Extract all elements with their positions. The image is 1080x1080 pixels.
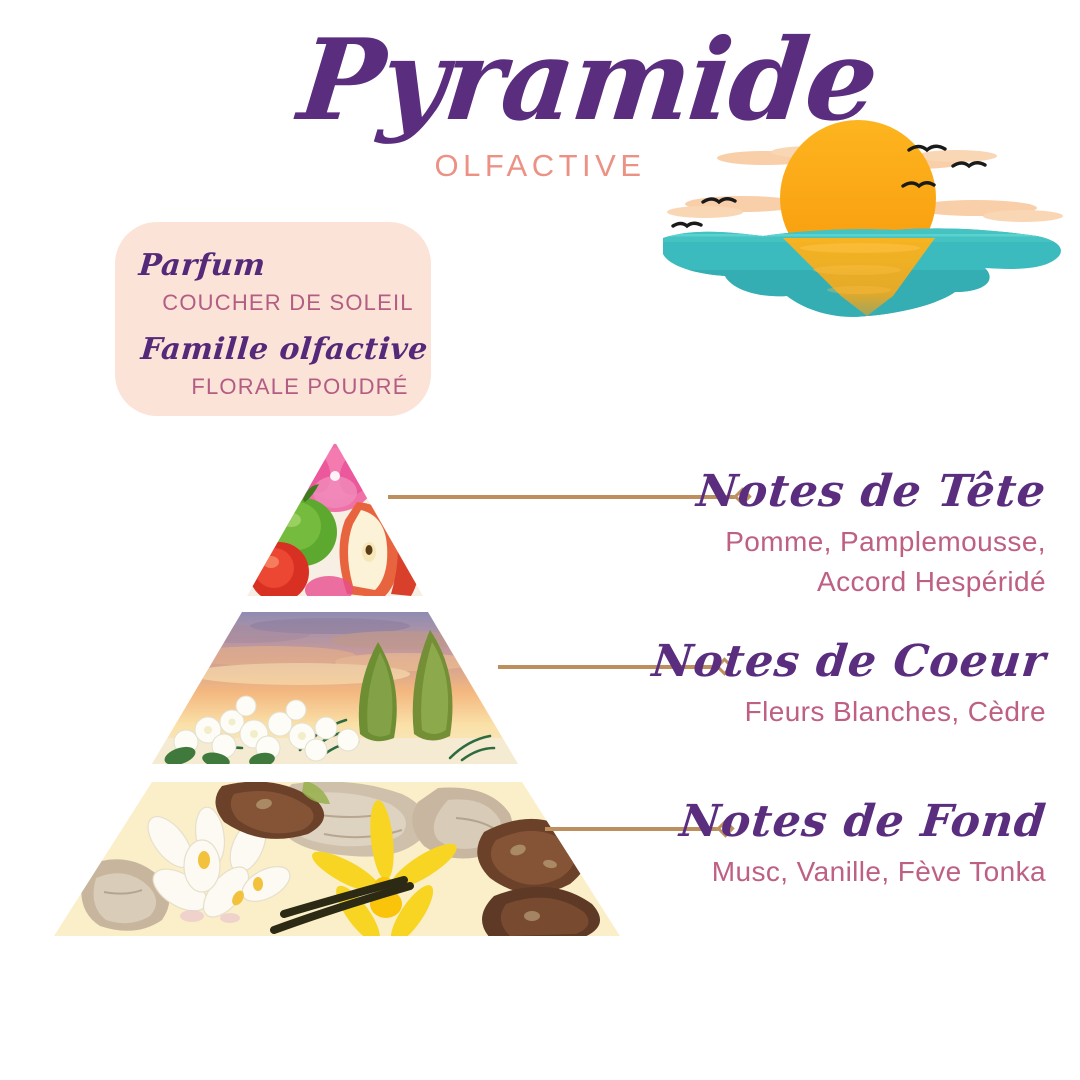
perfume-info-card: Parfum COUCHER DE SOLEIL Famille olfacti…	[115, 222, 431, 416]
perfume-label: Parfum	[137, 248, 267, 283]
olfactive-pyramid	[40, 440, 630, 950]
note-group-top: Notes de Tête Pomme, Pamplemousse, Accor…	[626, 470, 1046, 602]
infographic-canvas: Pyramide OLFACTIVE	[0, 0, 1080, 1080]
sea-body	[645, 220, 1075, 330]
top-tier-imagery	[245, 440, 425, 598]
note-items-top: Pomme, Pamplemousse, Accord Hespéridé	[626, 522, 1046, 602]
note-group-base: Notes de Fond Musc, Vanille, Fève Tonka	[626, 800, 1046, 892]
note-title-top: Notes de Tête	[624, 470, 1049, 514]
sunset-svg	[645, 120, 1075, 400]
pyramid-tier-bottom	[52, 780, 622, 938]
note-title-heart: Notes de Coeur	[624, 640, 1049, 684]
family-label: Famille olfactive	[139, 332, 429, 367]
pyramid-tier-middle	[150, 610, 520, 766]
middle-tier-imagery	[150, 610, 520, 766]
bottom-tier-imagery	[52, 780, 622, 938]
note-items-base: Musc, Vanille, Fève Tonka	[626, 852, 1046, 892]
sunset-illustration	[645, 120, 1075, 400]
note-title-base: Notes de Fond	[624, 800, 1049, 844]
apple-slice	[339, 500, 419, 598]
pyramid-tier-top	[245, 440, 425, 598]
note-group-heart: Notes de Coeur Fleurs Blanches, Cèdre	[626, 640, 1046, 732]
note-items-heart: Fleurs Blanches, Cèdre	[626, 692, 1046, 732]
family-value: FLORALE POUDRÉ	[165, 374, 435, 400]
perfume-value: COUCHER DE SOLEIL	[153, 290, 423, 316]
